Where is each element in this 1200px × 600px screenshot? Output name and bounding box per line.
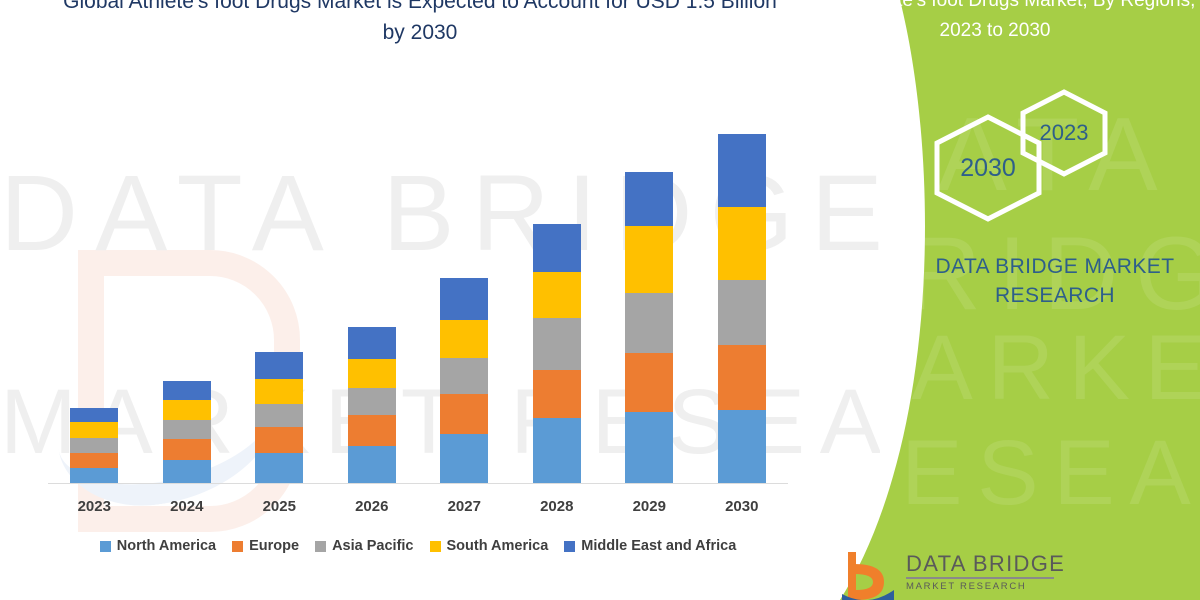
bar-segment (718, 134, 766, 207)
bar-segment (163, 381, 211, 401)
logo-subtitle: MARKET RESEARCH (906, 581, 1065, 592)
stacked-bar (718, 134, 766, 483)
logo-b-mark-icon (840, 550, 896, 600)
bar-segment (255, 404, 303, 427)
x-tick-label: 2024 (141, 498, 233, 515)
stacked-bar (70, 408, 118, 483)
bar-segment (255, 427, 303, 453)
legend-label: South America (447, 538, 549, 554)
bar-segment (70, 422, 118, 438)
legend-label: Asia Pacific (332, 538, 413, 554)
bar-segment (70, 453, 118, 469)
bar-segment (440, 278, 488, 320)
bar-segment (70, 438, 118, 453)
hexagon-2023-label: 2023 (1040, 120, 1089, 146)
bar-segment (440, 394, 488, 434)
legend-swatch-icon (315, 541, 326, 552)
logo-divider (906, 577, 1054, 579)
bar-segment (625, 172, 673, 226)
brand-name-line-2: RESEARCH (880, 281, 1200, 310)
stacked-bar (348, 327, 396, 483)
bar-segment (625, 293, 673, 354)
bar-column-2023 (48, 110, 140, 483)
bar-segment (348, 327, 396, 358)
bar-segment (718, 410, 766, 483)
x-tick-label: 2029 (603, 498, 695, 515)
bar-segment (625, 353, 673, 412)
bar-segment (533, 318, 581, 370)
stacked-bar (440, 278, 488, 483)
bar-column-2028 (511, 110, 603, 483)
bar-segment (440, 434, 488, 483)
hexagon-group: 2030 2023 (920, 88, 1130, 228)
bar-segment (163, 460, 211, 483)
bar-column-2024 (141, 110, 233, 483)
legend-swatch-icon (100, 541, 111, 552)
bar-segment (255, 352, 303, 378)
logo-title: DATA BRIDGE (906, 552, 1065, 576)
bar-segment (625, 226, 673, 293)
x-tick-label: 2023 (48, 498, 140, 515)
x-axis-tick-labels: 20232024202520262027202820292030 (48, 498, 788, 515)
bar-segment (255, 379, 303, 404)
logo-wordmark: DATA BRIDGE MARKET RESEARCH (906, 552, 1065, 592)
brand-name: DATA BRIDGE MARKET RESEARCH (880, 252, 1200, 310)
legend-label: Europe (249, 538, 299, 554)
stacked-bar (163, 381, 211, 483)
bar-segment (718, 345, 766, 410)
legend-swatch-icon (564, 541, 575, 552)
bar-segment (533, 272, 581, 318)
company-logo: DATA BRIDGE MARKET RESEARCH (840, 548, 1180, 600)
bar-segment (533, 418, 581, 483)
brand-panel-title: Global Athlete's foot Drugs Market, By R… (790, 0, 1200, 46)
hexagon-2030-label: 2030 (960, 154, 1016, 183)
legend-item[interactable]: Europe (232, 538, 299, 554)
chart-title: Global Athlete's foot Drugs Market is Ex… (60, 0, 780, 48)
stacked-bar (625, 172, 673, 483)
brand-name-line-1: DATA BRIDGE MARKET (880, 252, 1200, 281)
x-tick-label: 2027 (418, 498, 510, 515)
x-tick-label: 2030 (696, 498, 788, 515)
chart-panel: DATA BRIDGE MARKET RESEARCH Global Athle… (0, 0, 880, 600)
bar-column-2025 (233, 110, 325, 483)
bar-segment (625, 412, 673, 483)
legend-label: Middle East and Africa (581, 538, 736, 554)
hexagon-2023: 2023 (1016, 88, 1112, 178)
bar-segment (255, 453, 303, 483)
bar-segment (533, 224, 581, 272)
stacked-bar (533, 224, 581, 483)
legend-swatch-icon (430, 541, 441, 552)
bar-column-2026 (326, 110, 418, 483)
bar-segment (348, 415, 396, 446)
x-tick-label: 2025 (233, 498, 325, 515)
bar-column-2029 (603, 110, 695, 483)
x-tick-label: 2028 (511, 498, 603, 515)
bar-segment (348, 388, 396, 415)
x-axis-line (48, 483, 788, 484)
bar-segment (440, 320, 488, 358)
bar-segment (348, 446, 396, 483)
legend-item[interactable]: South America (430, 538, 549, 554)
stacked-bar-series (48, 110, 788, 483)
bar-segment (348, 359, 396, 388)
bar-segment (70, 468, 118, 483)
bar-segment (440, 358, 488, 395)
stacked-bar (255, 352, 303, 483)
bar-column-2030 (696, 110, 788, 483)
bar-segment (163, 400, 211, 420)
bar-segment (70, 408, 118, 423)
bar-segment (163, 420, 211, 439)
legend-label: North America (117, 538, 216, 554)
bar-segment (163, 439, 211, 460)
legend-item[interactable]: Middle East and Africa (564, 538, 736, 554)
legend-item[interactable]: North America (100, 538, 216, 554)
bar-segment (718, 207, 766, 280)
chart-infographic: DATA BRIDGE MARKET RESEARCH Global Athle… (0, 0, 1200, 600)
bar-segment (533, 370, 581, 418)
bar-segment (718, 280, 766, 345)
bar-column-2027 (418, 110, 510, 483)
legend-item[interactable]: Asia Pacific (315, 538, 413, 554)
chart-legend: North AmericaEuropeAsia PacificSouth Ame… (48, 538, 788, 554)
logo-glyph-icon (840, 550, 896, 600)
x-tick-label: 2026 (326, 498, 418, 515)
legend-swatch-icon (232, 541, 243, 552)
